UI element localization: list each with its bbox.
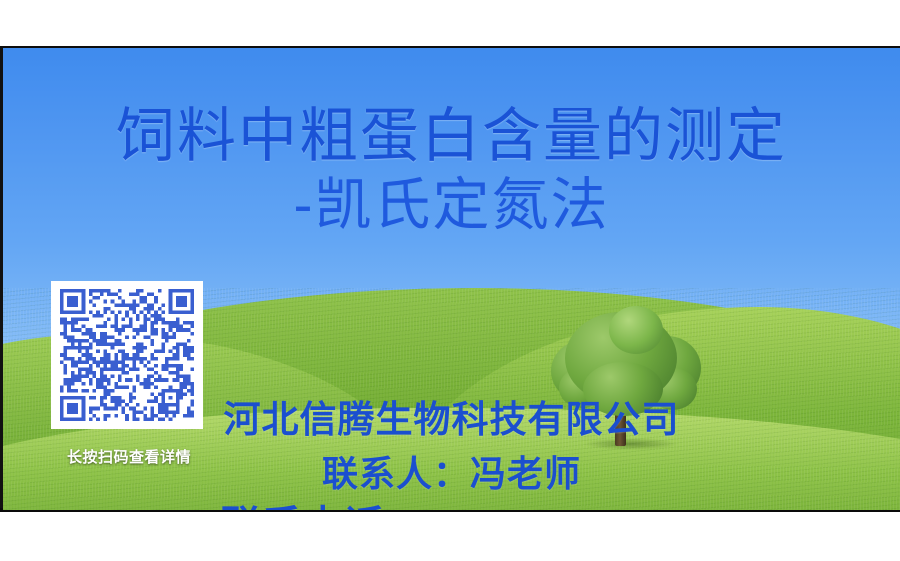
tree-foliage <box>609 306 663 354</box>
qr-caption: 长按扫码查看详情 <box>43 446 215 467</box>
page-root: 饲料中粗蛋白含量的测定 -凯氏定氮法 河北信腾生物科技有限公司 联系人：冯老师 … <box>0 0 900 561</box>
video-poster-stage[interactable]: 饲料中粗蛋白含量的测定 -凯氏定氮法 河北信腾生物科技有限公司 联系人：冯老师 … <box>3 48 900 510</box>
qr-code-icon[interactable] <box>60 289 194 421</box>
contact-phone: 联系电话：13520054632 <box>3 504 900 510</box>
qr-code-card[interactable] <box>51 281 203 429</box>
